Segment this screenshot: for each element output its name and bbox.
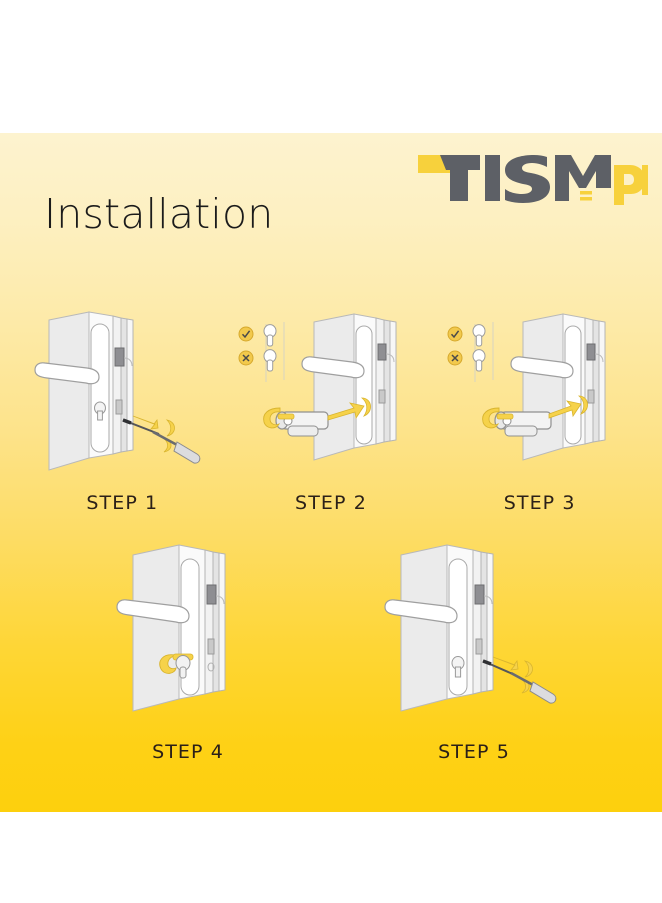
- logo-m-stripe-1: [580, 191, 592, 195]
- step-label-1: STEP 1: [86, 492, 158, 514]
- step-card-5: STEP 5: [374, 541, 574, 763]
- step-2-illustration: [236, 308, 426, 490]
- step-card-1: STEP 1: [22, 308, 222, 514]
- steps-row-bottom: STEP 4: [0, 541, 662, 763]
- door-frame: [205, 550, 225, 694]
- step-card-2: STEP 2: [231, 308, 431, 514]
- step-3-illustration: [445, 308, 635, 490]
- orientation-guide: [239, 322, 284, 382]
- screwdriver-icon: [511, 673, 556, 703]
- logo-letter-s: [505, 155, 550, 203]
- orientation-guide: [448, 322, 493, 382]
- step-5-illustration: [379, 541, 569, 737]
- door-frame: [585, 318, 605, 444]
- door-frame: [473, 550, 493, 694]
- step-card-3: STEP 3: [440, 308, 640, 514]
- logo-letter-i: [485, 155, 500, 201]
- step-label-3: STEP 3: [504, 492, 576, 514]
- logo-letter-r: [642, 165, 648, 195]
- brand-logo-svg: [416, 149, 648, 205]
- steps-row-top: STEP 1: [0, 308, 662, 514]
- door-frame: [113, 316, 133, 454]
- check-circle-icon: [448, 327, 462, 341]
- installation-poster: Installation: [0, 133, 662, 812]
- step-label-4: STEP 4: [152, 741, 224, 763]
- logo-letter-p: [614, 165, 645, 205]
- step-card-4: STEP 4: [88, 541, 288, 763]
- logo-m-stripe-2: [580, 197, 592, 201]
- door-frame: [376, 318, 396, 444]
- logo-letter-t: [440, 155, 480, 201]
- screwdriver-icon: [153, 432, 200, 463]
- step-label-2: STEP 2: [295, 492, 367, 514]
- step-4-illustration: [93, 541, 283, 737]
- brand-logo: [416, 149, 648, 205]
- handle-plate: [356, 326, 372, 444]
- check-circle-icon: [239, 327, 253, 341]
- step-1-illustration: [27, 308, 217, 490]
- rotation-arrow: [133, 416, 175, 452]
- handle-plate: [91, 324, 109, 452]
- step-label-5: STEP 5: [438, 741, 510, 763]
- page-title: Installation: [44, 190, 273, 238]
- handle-plate: [565, 326, 581, 444]
